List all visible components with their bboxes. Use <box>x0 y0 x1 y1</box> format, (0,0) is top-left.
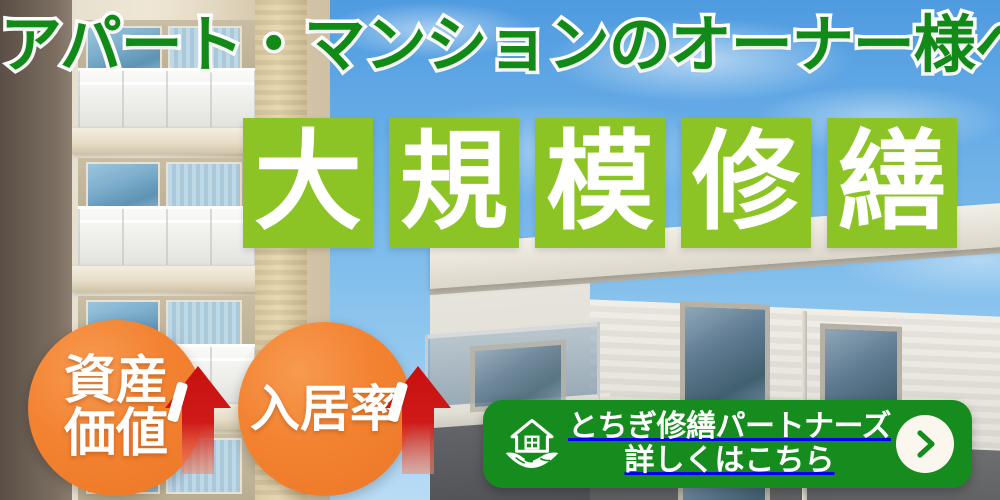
title-block-char: 繕 <box>827 118 957 248</box>
badge-line-2: 価値 <box>64 408 168 461</box>
house-handshake-icon <box>503 415 561 473</box>
badge-line-1: 入居率 <box>250 384 400 435</box>
window <box>680 301 770 415</box>
title-block-char: 大 <box>243 118 373 248</box>
promotional-banner: アパート・マンションのオーナー様へ 大 規 模 修 繕 資産 価値 入居率 <box>0 0 1000 500</box>
cta-line-1: とちぎ修繕パートナーズ <box>568 410 891 444</box>
title-block-char: 修 <box>681 118 811 248</box>
cta-button[interactable]: とちぎ修繕パートナーズ 詳しくはこちら <box>483 400 972 488</box>
cta-text-group: とちぎ修繕パートナーズ 詳しくはこちら <box>563 410 896 477</box>
title-block-char: 規 <box>389 118 519 248</box>
balcony-slab <box>72 266 277 292</box>
main-title-blocks: 大 規 模 修 繕 <box>243 118 957 248</box>
title-block-char: 模 <box>535 118 665 248</box>
badge-line-1: 資産 <box>64 355 168 408</box>
page-title: アパート・マンションのオーナー様へ <box>0 14 1000 76</box>
cta-line-2: 詳しくはこちら <box>625 444 835 478</box>
chevron-right-icon[interactable] <box>896 415 954 473</box>
